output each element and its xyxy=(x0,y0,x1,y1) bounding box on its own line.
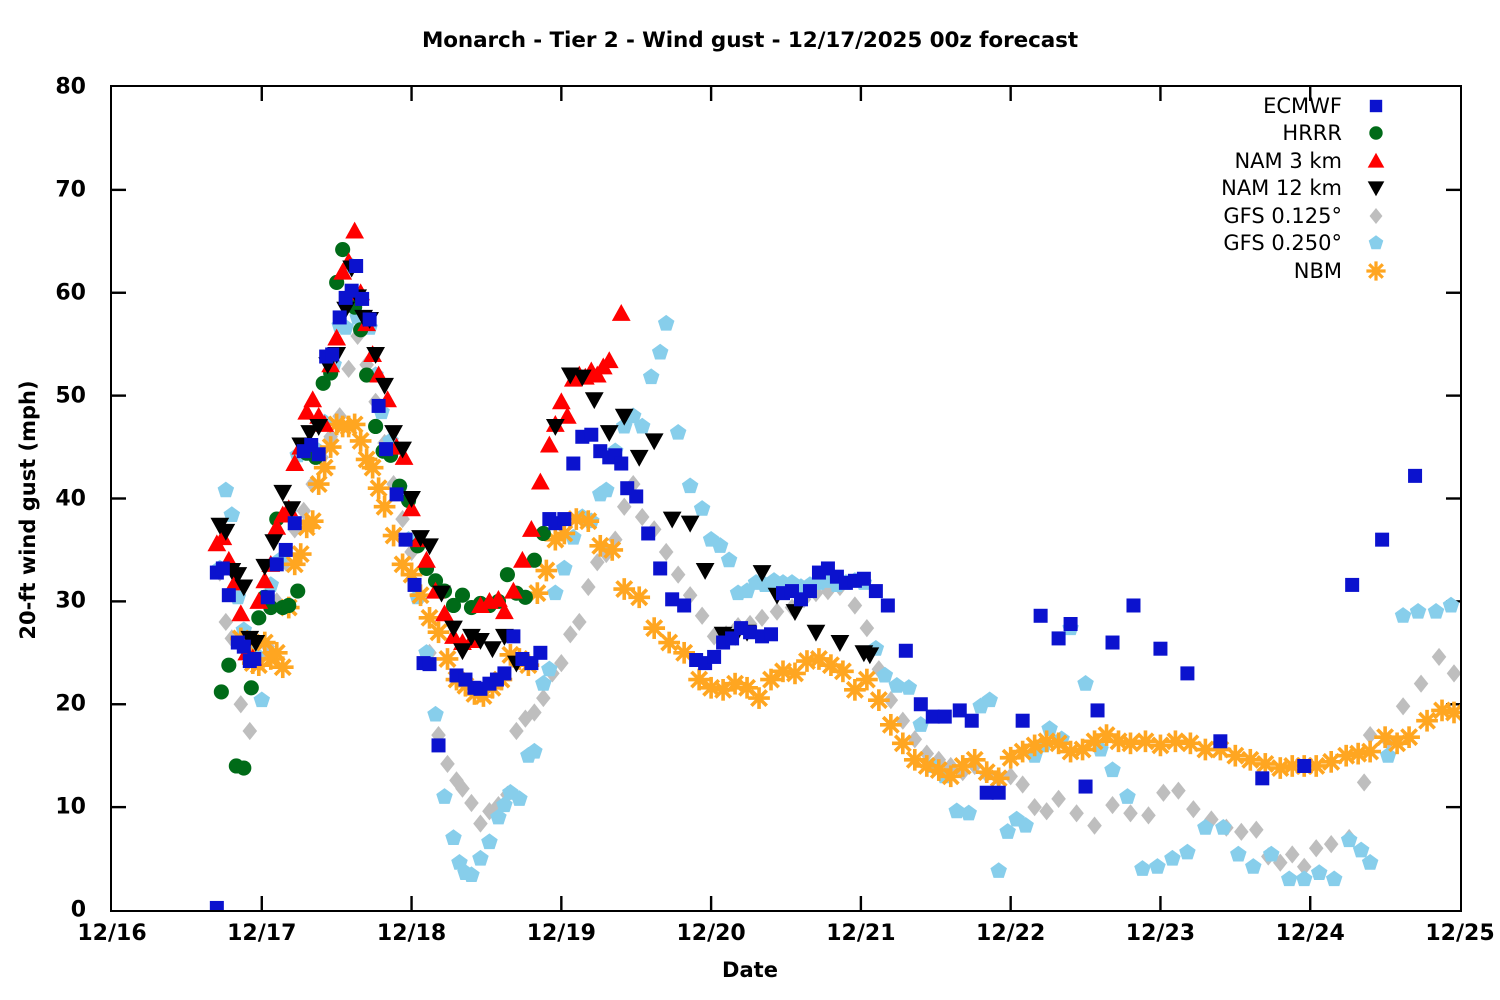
chart-title: Monarch - Tier 2 - Wind gust - 12/17/202… xyxy=(0,28,1500,53)
data-point xyxy=(901,679,918,695)
data-point xyxy=(1432,648,1447,666)
data-point xyxy=(1255,771,1269,785)
data-point xyxy=(677,598,691,612)
data-point xyxy=(1104,761,1121,777)
data-point xyxy=(1016,714,1030,728)
data-point xyxy=(1366,261,1385,280)
data-point xyxy=(868,689,890,711)
chart-legend: ECMWFHRRRNAM 3 kmNAM 12 kmGFS 0.125°GFS … xyxy=(1140,92,1398,285)
data-point xyxy=(992,786,1006,800)
data-point xyxy=(629,489,643,503)
data-point xyxy=(748,687,770,709)
data-point xyxy=(1369,127,1382,140)
data-point xyxy=(372,399,386,413)
data-point xyxy=(663,512,682,529)
data-point xyxy=(243,722,258,740)
data-point xyxy=(1064,617,1078,631)
data-point xyxy=(1087,817,1102,835)
legend-label: HRRR xyxy=(1282,121,1342,145)
data-point xyxy=(628,586,650,608)
data-point xyxy=(1353,842,1370,858)
data-point xyxy=(1428,603,1445,619)
data-point xyxy=(1234,823,1249,841)
data-point xyxy=(1370,100,1382,112)
data-point xyxy=(681,516,700,533)
legend-label: NAM 12 km xyxy=(1221,176,1342,200)
data-point xyxy=(236,760,251,775)
data-point xyxy=(856,669,878,691)
data-point xyxy=(1281,870,1298,886)
data-point xyxy=(896,712,911,730)
y-axis-label: 20-ft wind gust (mph) xyxy=(16,310,40,710)
data-point xyxy=(1414,675,1429,693)
data-point xyxy=(1239,749,1261,771)
data-point xyxy=(659,543,674,561)
data-point xyxy=(540,436,559,453)
data-point xyxy=(219,613,234,631)
data-point xyxy=(721,552,738,568)
data-point xyxy=(630,450,649,467)
data-point xyxy=(1297,759,1311,773)
data-point xyxy=(444,621,463,638)
data-point xyxy=(899,644,913,658)
data-point xyxy=(670,424,687,440)
data-point xyxy=(251,610,266,625)
data-point xyxy=(635,508,650,526)
legend-label: GFS 0.125° xyxy=(1223,204,1342,228)
data-point xyxy=(1015,775,1030,793)
data-point xyxy=(506,629,520,643)
data-point xyxy=(653,561,667,575)
data-point xyxy=(926,710,940,724)
data-point xyxy=(953,703,967,717)
data-point xyxy=(497,666,511,680)
data-point xyxy=(247,652,261,666)
data-point xyxy=(1408,469,1422,483)
data-point xyxy=(1345,578,1359,592)
x-tick-label: 12/17 xyxy=(192,921,332,946)
data-point xyxy=(399,533,413,547)
data-point xyxy=(1039,802,1054,820)
data-point xyxy=(1230,846,1247,862)
data-point xyxy=(1027,798,1042,816)
data-point xyxy=(1079,780,1093,794)
legend-label: GFS 0.250° xyxy=(1223,231,1342,255)
data-point xyxy=(210,901,224,910)
data-point xyxy=(379,442,393,456)
data-point xyxy=(1126,598,1140,612)
data-point xyxy=(914,697,928,711)
data-point xyxy=(1410,603,1427,619)
legend-marker-pentagon-icon xyxy=(1354,230,1398,257)
data-point xyxy=(290,584,305,599)
data-point xyxy=(1106,636,1120,650)
data-point xyxy=(536,689,551,707)
legend-label: ECMWF xyxy=(1263,94,1342,118)
data-point xyxy=(1224,745,1246,767)
data-point xyxy=(577,510,599,532)
data-point xyxy=(1041,720,1058,736)
data-point xyxy=(368,419,383,434)
data-point xyxy=(325,347,339,361)
legend-item-hrrr[interactable]: HRRR xyxy=(1140,120,1398,148)
data-point xyxy=(552,392,571,409)
data-point xyxy=(302,510,324,532)
data-point xyxy=(707,650,721,664)
data-point xyxy=(563,625,578,643)
data-point xyxy=(1171,782,1186,800)
data-point xyxy=(869,584,883,598)
x-tick-label: 12/25 xyxy=(1390,921,1500,946)
data-point xyxy=(860,619,875,637)
data-point xyxy=(509,722,524,740)
y-tick-label: 0 xyxy=(16,898,86,923)
data-point xyxy=(273,485,292,502)
data-point xyxy=(1380,747,1397,763)
data-point xyxy=(303,390,322,407)
data-point xyxy=(221,658,236,673)
data-point xyxy=(531,473,550,490)
data-point xyxy=(281,598,296,613)
data-point xyxy=(390,487,404,501)
data-point xyxy=(436,788,453,804)
data-point xyxy=(584,428,598,442)
y-tick-label: 60 xyxy=(16,280,86,305)
data-point xyxy=(533,646,547,660)
data-point xyxy=(807,625,826,642)
legend-marker-square-icon xyxy=(1354,92,1398,119)
data-point xyxy=(1119,788,1136,804)
data-point xyxy=(665,592,679,606)
data-point xyxy=(652,344,669,360)
data-point xyxy=(432,738,446,752)
data-point xyxy=(1375,533,1389,547)
data-point xyxy=(1135,730,1157,752)
data-point xyxy=(556,560,573,576)
data-point xyxy=(1077,675,1094,691)
data-point xyxy=(261,590,275,604)
data-point xyxy=(694,500,711,516)
data-point xyxy=(682,477,699,493)
x-tick-label: 12/16 xyxy=(42,921,182,946)
data-point xyxy=(1150,735,1172,757)
legend-marker-triangle-up-icon xyxy=(1354,147,1398,174)
data-point xyxy=(1416,710,1438,732)
data-point xyxy=(695,607,710,625)
data-point xyxy=(375,378,394,395)
data-point xyxy=(585,392,604,409)
data-point xyxy=(333,310,347,324)
data-point xyxy=(362,457,384,479)
data-point xyxy=(1034,609,1048,623)
data-point xyxy=(601,539,623,561)
data-point xyxy=(1296,870,1313,886)
data-point xyxy=(1105,796,1120,814)
data-point xyxy=(368,477,390,499)
data-point xyxy=(349,259,363,273)
data-point xyxy=(345,222,364,239)
data-point xyxy=(428,621,450,643)
data-point xyxy=(770,603,785,621)
data-point xyxy=(1309,839,1324,857)
data-point xyxy=(408,578,422,592)
data-point xyxy=(938,710,952,724)
data-point xyxy=(658,632,680,654)
legend-item-gfs-0-125[interactable]: GFS 0.125° xyxy=(1140,202,1398,230)
x-tick-label: 12/22 xyxy=(941,921,1081,946)
y-tick-label: 70 xyxy=(16,177,86,202)
data-point xyxy=(472,850,489,866)
data-point xyxy=(1215,819,1232,835)
data-point xyxy=(1051,790,1066,808)
data-point xyxy=(1398,726,1420,748)
legend-item-ecmwf[interactable]: ECMWF xyxy=(1140,92,1398,120)
data-point xyxy=(1091,703,1105,717)
data-point xyxy=(600,425,619,442)
data-point xyxy=(572,613,587,631)
data-point xyxy=(290,543,312,565)
data-point xyxy=(832,660,854,682)
legend-item-nbm[interactable]: NBM xyxy=(1140,257,1398,285)
data-point xyxy=(1370,208,1383,224)
data-point xyxy=(658,315,675,331)
legend-item-nam-12-km[interactable]: NAM 12 km xyxy=(1140,175,1398,203)
data-point xyxy=(440,755,455,773)
legend-marker-asterisk-icon xyxy=(1354,257,1398,284)
data-point xyxy=(218,482,235,498)
data-point xyxy=(557,512,571,526)
data-point xyxy=(234,695,249,713)
data-point xyxy=(1123,804,1138,822)
data-point xyxy=(1149,858,1166,874)
data-point xyxy=(216,561,230,575)
data-point xyxy=(990,862,1007,878)
data-point xyxy=(960,805,977,821)
data-point xyxy=(803,584,817,598)
data-point xyxy=(598,482,615,498)
series-gfs-0-125 xyxy=(213,327,1460,876)
data-point xyxy=(355,292,369,306)
data-point xyxy=(288,516,302,530)
data-point xyxy=(473,814,488,832)
data-point xyxy=(831,635,850,652)
data-point xyxy=(464,794,479,812)
y-tick-label: 10 xyxy=(16,795,86,820)
data-point xyxy=(1052,631,1066,645)
data-point xyxy=(547,584,564,600)
data-point xyxy=(612,304,631,321)
data-point xyxy=(526,743,543,759)
legend-marker-circle-icon xyxy=(1354,120,1398,147)
data-point xyxy=(1311,864,1328,880)
data-point xyxy=(645,433,664,450)
data-point xyxy=(880,714,902,736)
data-point xyxy=(980,786,994,800)
legend-label: NAM 3 km xyxy=(1234,149,1342,173)
data-point xyxy=(237,640,251,654)
data-point xyxy=(671,566,686,584)
data-point xyxy=(1263,846,1280,862)
data-point xyxy=(743,625,757,639)
legend-marker-triangle-down-icon xyxy=(1354,175,1398,202)
data-point xyxy=(848,596,863,614)
data-point xyxy=(1368,152,1385,167)
legend-item-nam-3-km[interactable]: NAM 3 km xyxy=(1140,147,1398,175)
data-point xyxy=(214,684,229,699)
x-tick-label: 12/21 xyxy=(791,921,931,946)
data-point xyxy=(1447,664,1460,682)
legend-item-gfs-0-250[interactable]: GFS 0.250° xyxy=(1140,230,1398,258)
data-point xyxy=(481,833,498,849)
data-point xyxy=(231,604,250,621)
series-ecmwf xyxy=(210,259,1422,910)
data-point xyxy=(643,368,660,384)
data-point xyxy=(614,457,628,471)
data-point xyxy=(1395,607,1412,623)
data-point xyxy=(1179,844,1196,860)
data-point xyxy=(483,641,502,658)
data-point xyxy=(1324,835,1339,853)
data-point xyxy=(857,572,871,586)
data-point xyxy=(1180,666,1194,680)
data-point xyxy=(270,557,284,571)
data-point xyxy=(1249,821,1264,839)
data-point xyxy=(1341,831,1358,847)
data-point xyxy=(272,656,294,678)
data-point xyxy=(1443,597,1460,613)
x-tick-label: 12/20 xyxy=(641,921,781,946)
legend-marker-diamond-icon xyxy=(1354,202,1398,229)
data-point xyxy=(1245,858,1262,874)
data-point xyxy=(350,430,372,452)
data-point xyxy=(1396,697,1411,715)
data-point xyxy=(1141,806,1156,824)
data-point xyxy=(641,526,655,540)
data-point xyxy=(764,627,778,641)
data-point xyxy=(437,648,459,670)
data-point xyxy=(445,829,462,845)
data-point xyxy=(1134,860,1151,876)
data-point xyxy=(500,567,515,582)
data-point xyxy=(312,447,326,461)
data-point xyxy=(279,543,293,557)
data-point xyxy=(244,680,259,695)
data-point xyxy=(881,598,895,612)
data-point xyxy=(1164,850,1181,866)
legend-label: NBM xyxy=(1294,259,1342,283)
data-point xyxy=(1368,182,1385,197)
data-point xyxy=(1326,870,1343,886)
data-point xyxy=(417,551,436,568)
data-point xyxy=(1186,800,1201,818)
data-point xyxy=(908,730,923,748)
data-point xyxy=(222,588,236,602)
data-point xyxy=(1369,236,1384,250)
data-point xyxy=(965,714,979,728)
data-point xyxy=(254,691,271,707)
data-point xyxy=(566,457,580,471)
data-point xyxy=(1285,845,1300,863)
data-point xyxy=(1069,804,1084,822)
data-point xyxy=(892,732,914,754)
data-point xyxy=(981,691,998,707)
x-tick-label: 12/23 xyxy=(1090,921,1230,946)
data-point xyxy=(341,360,356,378)
data-point xyxy=(423,657,437,671)
x-tick-label: 12/18 xyxy=(342,921,482,946)
data-point xyxy=(786,604,805,621)
data-point xyxy=(696,563,715,580)
x-axis-label: Date xyxy=(0,958,1500,982)
x-tick-label: 12/24 xyxy=(1240,921,1380,946)
data-point xyxy=(1153,642,1167,656)
series-nbm xyxy=(230,414,1460,790)
data-point xyxy=(363,312,377,326)
y-tick-label: 80 xyxy=(16,75,86,100)
data-point xyxy=(1156,784,1171,802)
chart-page: Monarch - Tier 2 - Wind gust - 12/17/202… xyxy=(0,0,1500,1000)
data-point xyxy=(455,588,470,603)
data-point xyxy=(581,578,596,596)
data-point xyxy=(1213,734,1227,748)
x-tick-label: 12/19 xyxy=(491,921,631,946)
data-point xyxy=(427,706,444,722)
data-point xyxy=(1357,773,1372,791)
